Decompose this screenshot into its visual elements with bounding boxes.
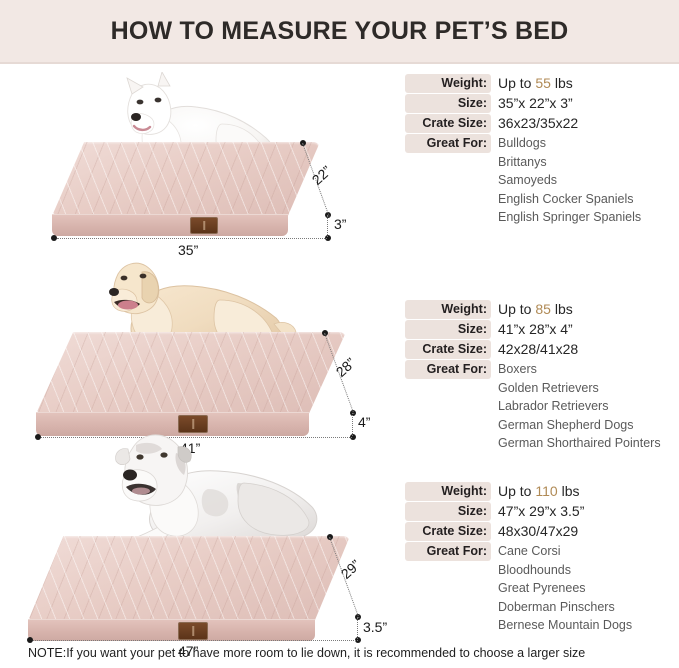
- breed-item: Brittanys: [498, 153, 641, 172]
- spec-value-crate-size: 48x30/47x29: [491, 522, 679, 541]
- bed-top-surface: [28, 536, 350, 621]
- dim-line-height: [357, 617, 358, 639]
- spec-value-weight: Up to 55 lbs: [491, 74, 679, 93]
- spec-table-medium: Weight: Up to 85 lbs Size: 41”x 28”x 4” …: [405, 300, 679, 454]
- weight-prefix: Up to: [498, 483, 535, 499]
- breed-item: Bernese Mountain Dogs: [498, 616, 632, 635]
- header-divider: [0, 62, 679, 64]
- bed-top-surface: [36, 332, 346, 414]
- brand-leather-tag: [190, 217, 218, 234]
- bed-size-section-large: 29” 3.5” 47” Weight: Up to 110 lbs Size:…: [0, 433, 679, 633]
- dim-line-height: [327, 215, 328, 237]
- breed-item: Bulldogs: [498, 134, 641, 153]
- bed-illustration-small: 22” 3” 35”: [0, 66, 400, 248]
- spec-row-great-for: Great For: Bulldogs Brittanys Samoyeds E…: [405, 134, 679, 227]
- dim-label-width: 22”: [309, 163, 335, 188]
- spec-row-weight: Weight: Up to 85 lbs: [405, 300, 679, 319]
- weight-prefix: Up to: [498, 75, 535, 91]
- breed-item: Cane Corsi: [498, 542, 632, 561]
- weight-suffix: lbs: [551, 301, 573, 317]
- bed-front-panel: [52, 214, 288, 236]
- breed-item: Samoyeds: [498, 171, 641, 190]
- spec-value-crate-size: 36x23/35x22: [491, 114, 679, 133]
- spec-key-great-for: Great For:: [405, 134, 491, 153]
- bed-size-section-medium: 28” 4” 41” Weight: Up to 85 lbs Size: 41…: [0, 248, 679, 433]
- spec-key-weight: Weight:: [405, 300, 491, 319]
- spec-row-crate-size: Crate Size: 42x28/41x28: [405, 340, 679, 359]
- spec-value-crate-size: 42x28/41x28: [491, 340, 679, 359]
- weight-prefix: Up to: [498, 301, 535, 317]
- bed-illustration-medium: 28” 4” 41”: [0, 248, 400, 433]
- spec-row-crate-size: Crate Size: 48x30/47x29: [405, 522, 679, 541]
- spec-key-crate-size: Crate Size:: [405, 522, 491, 541]
- spec-value-weight: Up to 85 lbs: [491, 300, 679, 319]
- breed-list-large: Cane Corsi Bloodhounds Great Pyrenees Do…: [491, 542, 632, 635]
- spec-row-weight: Weight: Up to 110 lbs: [405, 482, 679, 501]
- breed-item: Doberman Pinschers: [498, 598, 632, 617]
- weight-value: 85: [535, 301, 551, 317]
- breed-item: German Shepherd Dogs: [498, 416, 661, 435]
- footer-note: NOTE:If you want your pet to have more r…: [28, 646, 585, 660]
- spec-row-great-for: Great For: Cane Corsi Bloodhounds Great …: [405, 542, 679, 635]
- spec-key-size: Size:: [405, 502, 491, 521]
- breed-item: Labrador Retrievers: [498, 397, 661, 416]
- breed-item: Bloodhounds: [498, 561, 632, 580]
- page-title: HOW TO MEASURE YOUR PET’S BED: [111, 17, 569, 46]
- bed-size-section-small: 22” 3” 35” Weight: Up to 55 lbs Size: 35…: [0, 66, 679, 248]
- spec-table-large: Weight: Up to 110 lbs Size: 47”x 29”x 3.…: [405, 482, 679, 636]
- spec-table-small: Weight: Up to 55 lbs Size: 35”x 22”x 3” …: [405, 74, 679, 228]
- spec-key-weight: Weight:: [405, 482, 491, 501]
- dim-label-height: 3”: [334, 216, 346, 232]
- spec-key-weight: Weight:: [405, 74, 491, 93]
- brand-leather-tag: [178, 622, 208, 640]
- dim-label-height: 4”: [358, 414, 370, 430]
- breed-list-small: Bulldogs Brittanys Samoyeds English Cock…: [491, 134, 641, 227]
- spec-key-crate-size: Crate Size:: [405, 114, 491, 133]
- bed-top-surface: [52, 142, 320, 216]
- dim-line-length: [33, 640, 358, 641]
- spec-row-crate-size: Crate Size: 36x23/35x22: [405, 114, 679, 133]
- spec-key-size: Size:: [405, 94, 491, 113]
- spec-key-size: Size:: [405, 320, 491, 339]
- weight-value: 110: [535, 483, 557, 499]
- page-header: HOW TO MEASURE YOUR PET’S BED: [0, 0, 679, 62]
- spec-key-crate-size: Crate Size:: [405, 340, 491, 359]
- dim-line-length: [57, 238, 327, 239]
- breed-item: Great Pyrenees: [498, 579, 632, 598]
- spec-row-size: Size: 41”x 28”x 4”: [405, 320, 679, 339]
- bed-illustration-large: 29” 3.5” 47”: [0, 433, 400, 633]
- spec-value-weight: Up to 110 lbs: [491, 482, 679, 501]
- spec-value-size: 41”x 28”x 4”: [491, 320, 679, 339]
- breed-item: Boxers: [498, 360, 661, 379]
- breed-item: English Cocker Spaniels: [498, 190, 641, 209]
- weight-suffix: lbs: [558, 483, 580, 499]
- spec-key-great-for: Great For:: [405, 542, 491, 561]
- spec-value-size: 47”x 29”x 3.5”: [491, 502, 679, 521]
- bed-front-panel: [28, 619, 315, 641]
- brand-leather-tag: [178, 415, 208, 433]
- weight-suffix: lbs: [551, 75, 573, 91]
- spec-row-size: Size: 47”x 29”x 3.5”: [405, 502, 679, 521]
- breed-item: Golden Retrievers: [498, 379, 661, 398]
- breed-item: English Springer Spaniels: [498, 208, 641, 227]
- dim-label-width: 28”: [333, 355, 359, 380]
- dim-label-height: 3.5”: [363, 619, 387, 635]
- weight-value: 55: [535, 75, 551, 91]
- spec-row-size: Size: 35”x 22”x 3”: [405, 94, 679, 113]
- spec-key-great-for: Great For:: [405, 360, 491, 379]
- spec-value-size: 35”x 22”x 3”: [491, 94, 679, 113]
- spec-row-weight: Weight: Up to 55 lbs: [405, 74, 679, 93]
- dim-label-width: 29”: [338, 557, 364, 582]
